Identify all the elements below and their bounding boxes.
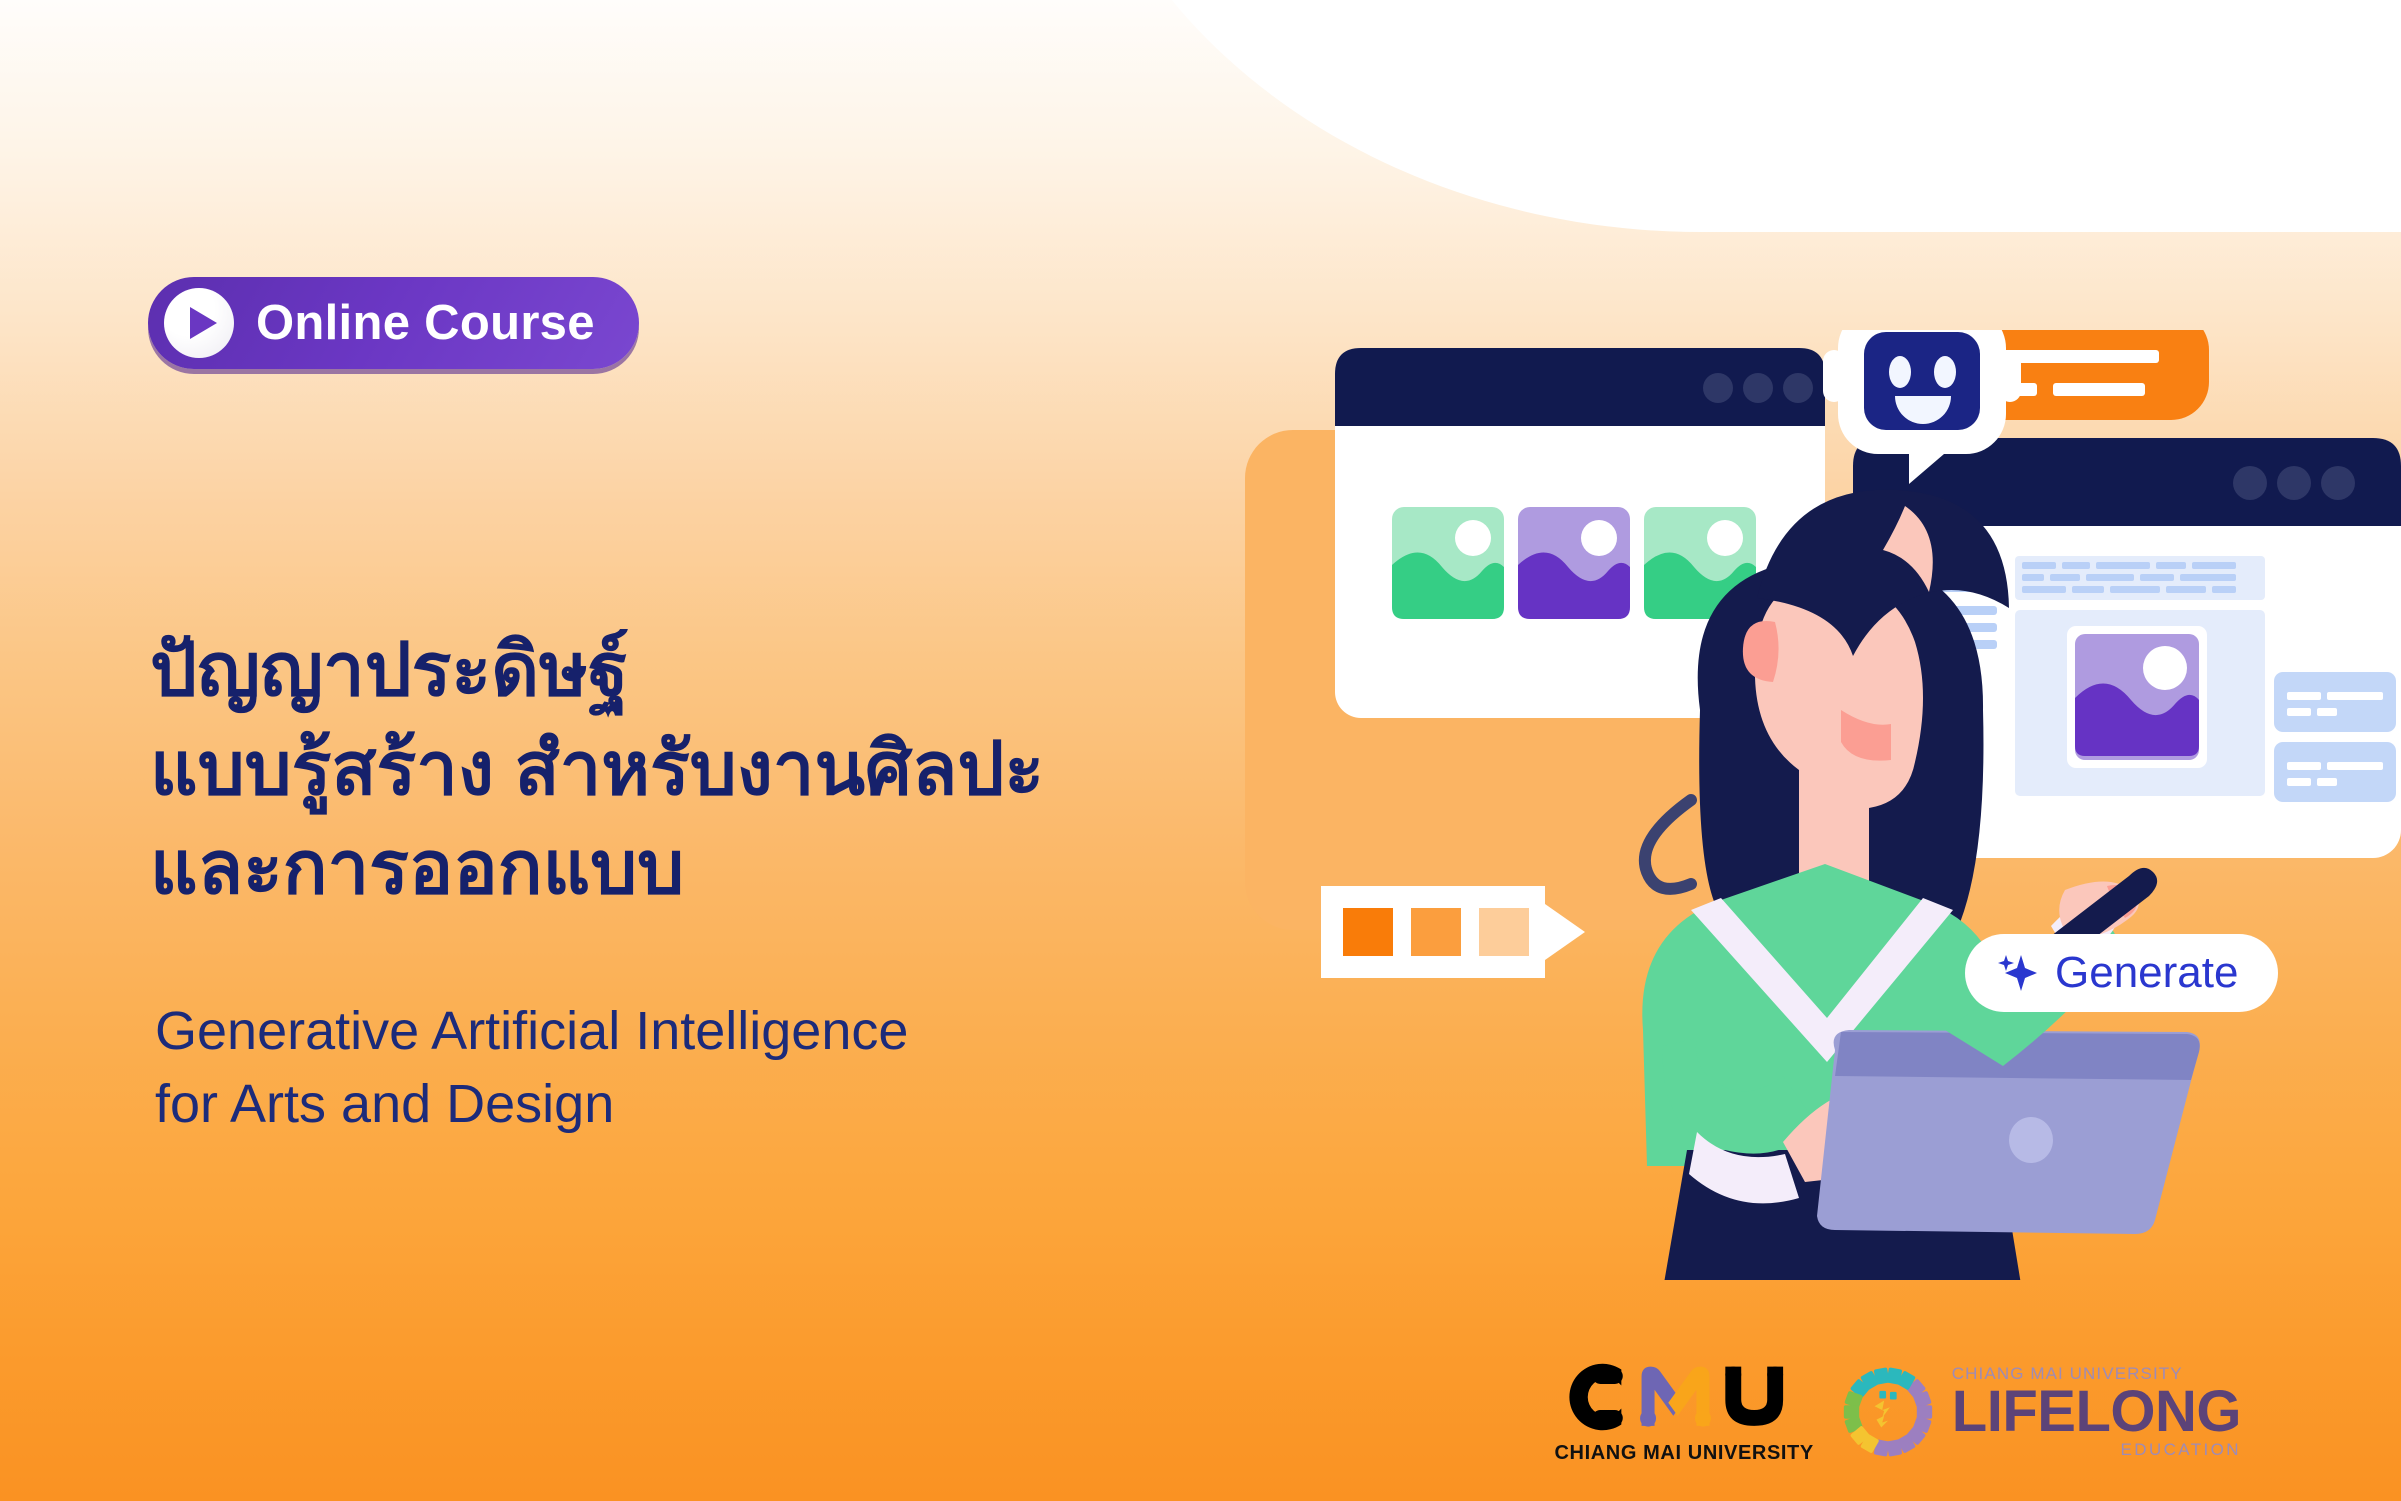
lifelong-line3: EDUCATION: [2121, 1441, 2241, 1458]
header-plate: [1061, 0, 2401, 232]
course-title-english-line2: for Arts and Design: [155, 1068, 1255, 1141]
thumbnail-1: [1392, 507, 1504, 619]
course-title-thai-line2: แบบรู้สร้าง สำหรับงานศิลปะ: [150, 719, 1330, 818]
thumbnail-2: [1518, 507, 1630, 619]
logo-row: CHIANG MAI UNIVERSITY: [1555, 1358, 2241, 1465]
progress-square-3: [1479, 908, 1529, 956]
play-icon: [164, 288, 234, 358]
course-title-english-line1: Generative Artificial Intelligence: [155, 995, 1255, 1068]
course-banner: CHIANG MAI UNIVERSITY: [0, 0, 2401, 1501]
cmu-subtitle: CHIANG MAI UNIVERSITY: [1555, 1442, 1814, 1465]
progress-square-1: [1343, 908, 1393, 956]
lifelong-ring-icon: [1840, 1364, 1936, 1460]
sparkle-icon: [1997, 953, 2037, 993]
online-course-label: Online Course: [256, 295, 595, 351]
cmu-wordmark-icon: [1565, 1358, 1803, 1436]
course-title-thai: ปัญญาประดิษฐ์ แบบรู้สร้าง สำหรับงานศิลปะ…: [150, 620, 1330, 917]
info-tag-1: [2274, 672, 2396, 732]
course-title-thai-line1: ปัญญาประดิษฐ์: [150, 620, 1330, 719]
course-title-english: Generative Artificial Intelligence for A…: [155, 995, 1255, 1142]
generate-button[interactable]: Generate: [1965, 934, 2278, 1012]
progress-square-2: [1411, 908, 1461, 956]
lifelong-text: CHIANG MAI UNIVERSITY LIFELONG EDUCATION: [1952, 1365, 2241, 1458]
illustration: [1245, 330, 2401, 1280]
lifelong-line2: LIFELONG: [1952, 1385, 2241, 1438]
thumbnail-front: [2075, 634, 2199, 760]
course-title-thai-line3: และการออกแบบ: [150, 818, 1330, 917]
lifelong-logo: CHIANG MAI UNIVERSITY LIFELONG EDUCATION: [1840, 1364, 2241, 1460]
online-course-badge[interactable]: Online Course: [148, 277, 639, 369]
info-tag-2: [2274, 742, 2396, 802]
cmu-logo: CHIANG MAI UNIVERSITY: [1555, 1358, 1814, 1465]
generate-label: Generate: [2055, 948, 2238, 998]
